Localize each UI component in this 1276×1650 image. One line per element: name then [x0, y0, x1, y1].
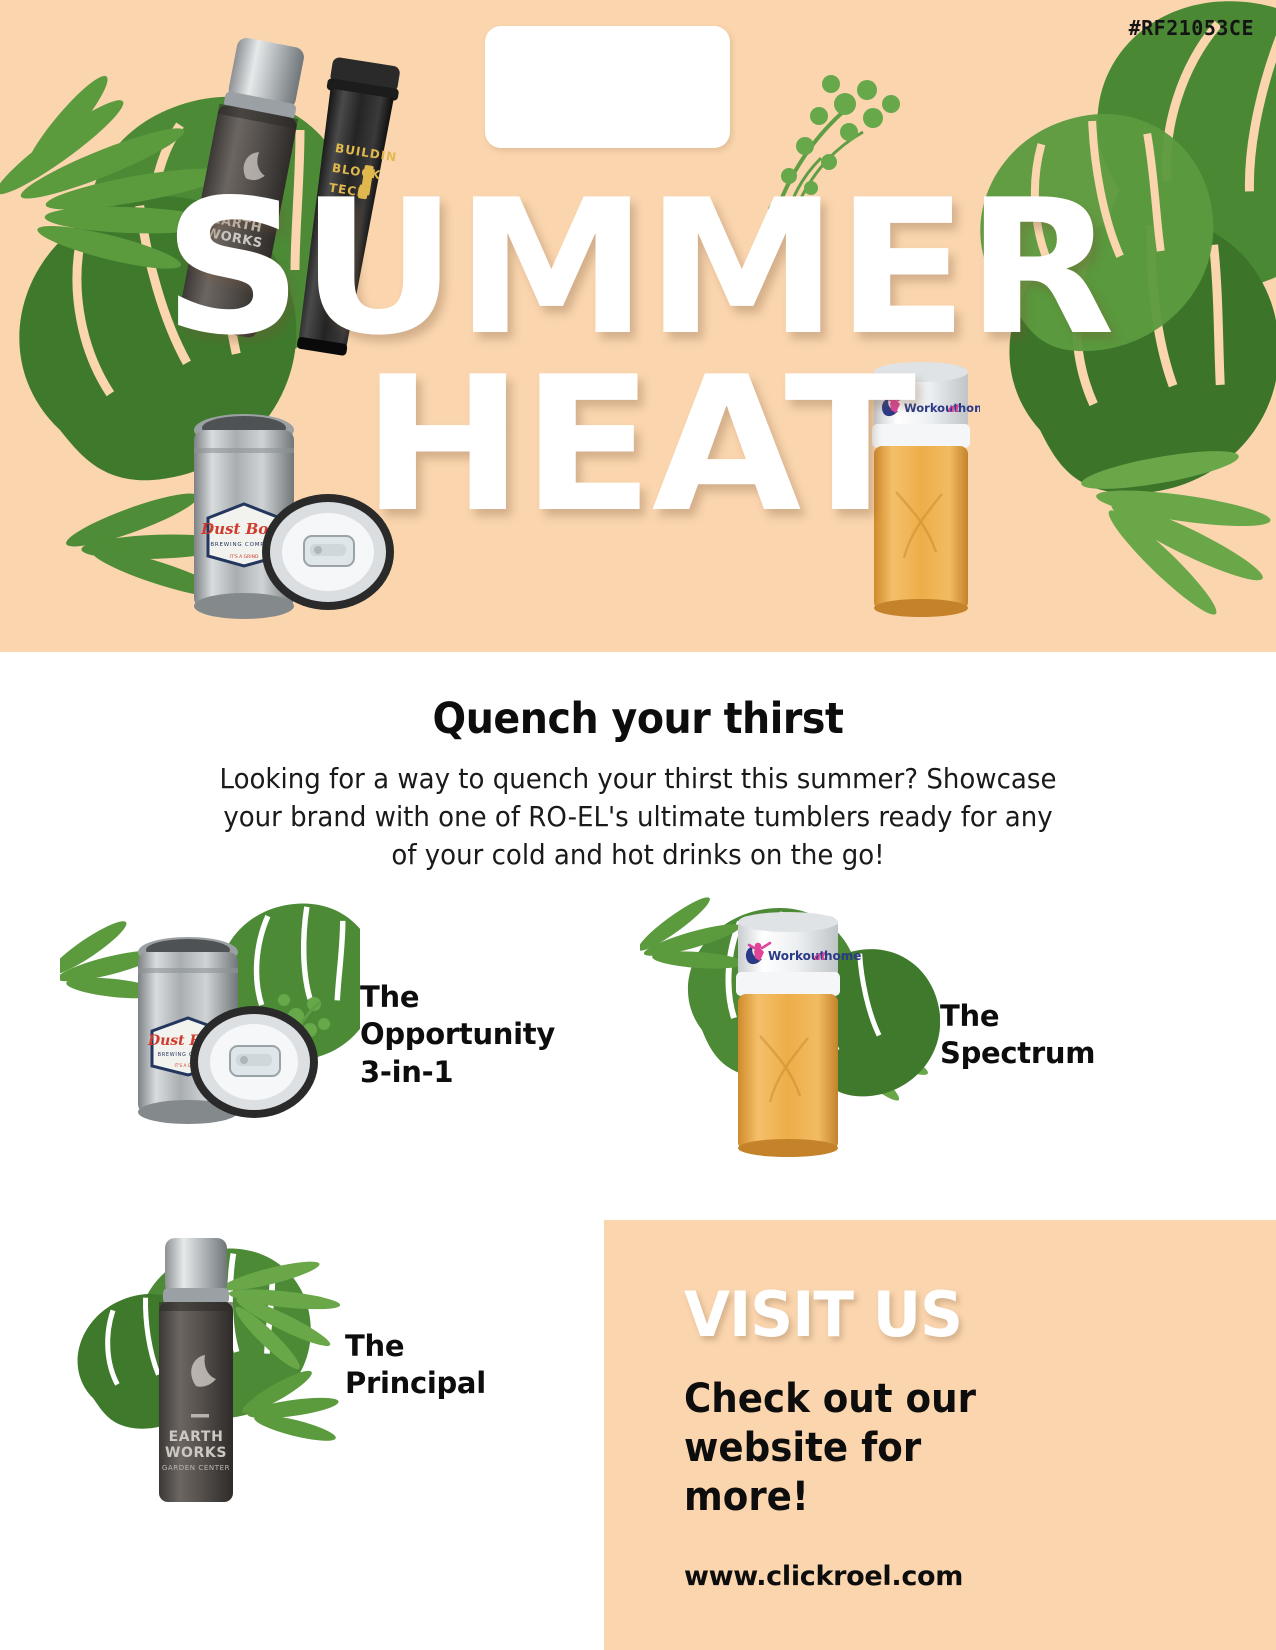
product-card-principal[interactable]: EARTH WORKS GARDEN CENTER The Principal [45, 1220, 486, 1510]
product-image-opportunity: Dust Bowl BREWING COMPANY IT'S A GRIND [60, 890, 360, 1180]
visit-us-panel: VISIT US Check out our website for more!… [604, 1220, 1276, 1650]
visit-us-subheading: Check out our website for more! [684, 1375, 1056, 1521]
svg-text:WORKS: WORKS [165, 1445, 227, 1461]
hero-banner: EARTH WORKS GARDEN CENTER BUILDING BLOCK… [0, 0, 1276, 652]
section-heading: Quench your thirst [51, 694, 1225, 744]
logo-placeholder-box[interactable] [485, 26, 730, 148]
product-label-opportunity: The Opportunity 3-in-1 [360, 979, 555, 1090]
svg-text:IT'S A GRIND: IT'S A GRIND [230, 554, 259, 560]
svg-text:home: home [958, 401, 980, 415]
main-content: Quench your thirst Looking for a way to … [0, 652, 1276, 1650]
product-card-spectrum[interactable]: Workout at home The Spectrum [640, 890, 1095, 1180]
svg-text:EARTH: EARTH [169, 1429, 224, 1445]
product-image-principal: EARTH WORKS GARDEN CENTER [45, 1220, 345, 1510]
website-url[interactable]: www.clickroel.com [684, 1561, 1276, 1592]
svg-text:GARDEN CENTER: GARDEN CENTER [162, 1464, 230, 1472]
section-paragraph: Looking for a way to quench your thirst … [210, 760, 1066, 873]
product-tumbler-lid-hero [258, 490, 398, 614]
visit-us-heading: VISIT US [684, 1278, 1252, 1351]
product-label-spectrum: The Spectrum [940, 998, 1095, 1072]
svg-text:home: home [824, 949, 861, 963]
product-image-spectrum: Workout at home [640, 890, 940, 1180]
product-card-opportunity[interactable]: Dust Bowl BREWING COMPANY IT'S A GRIND [60, 890, 555, 1180]
product-bottle-spectrum-hero: Workout at home [862, 362, 980, 618]
reference-code: #RF21053CE [1129, 16, 1254, 40]
product-label-principal: The Principal [345, 1328, 486, 1402]
